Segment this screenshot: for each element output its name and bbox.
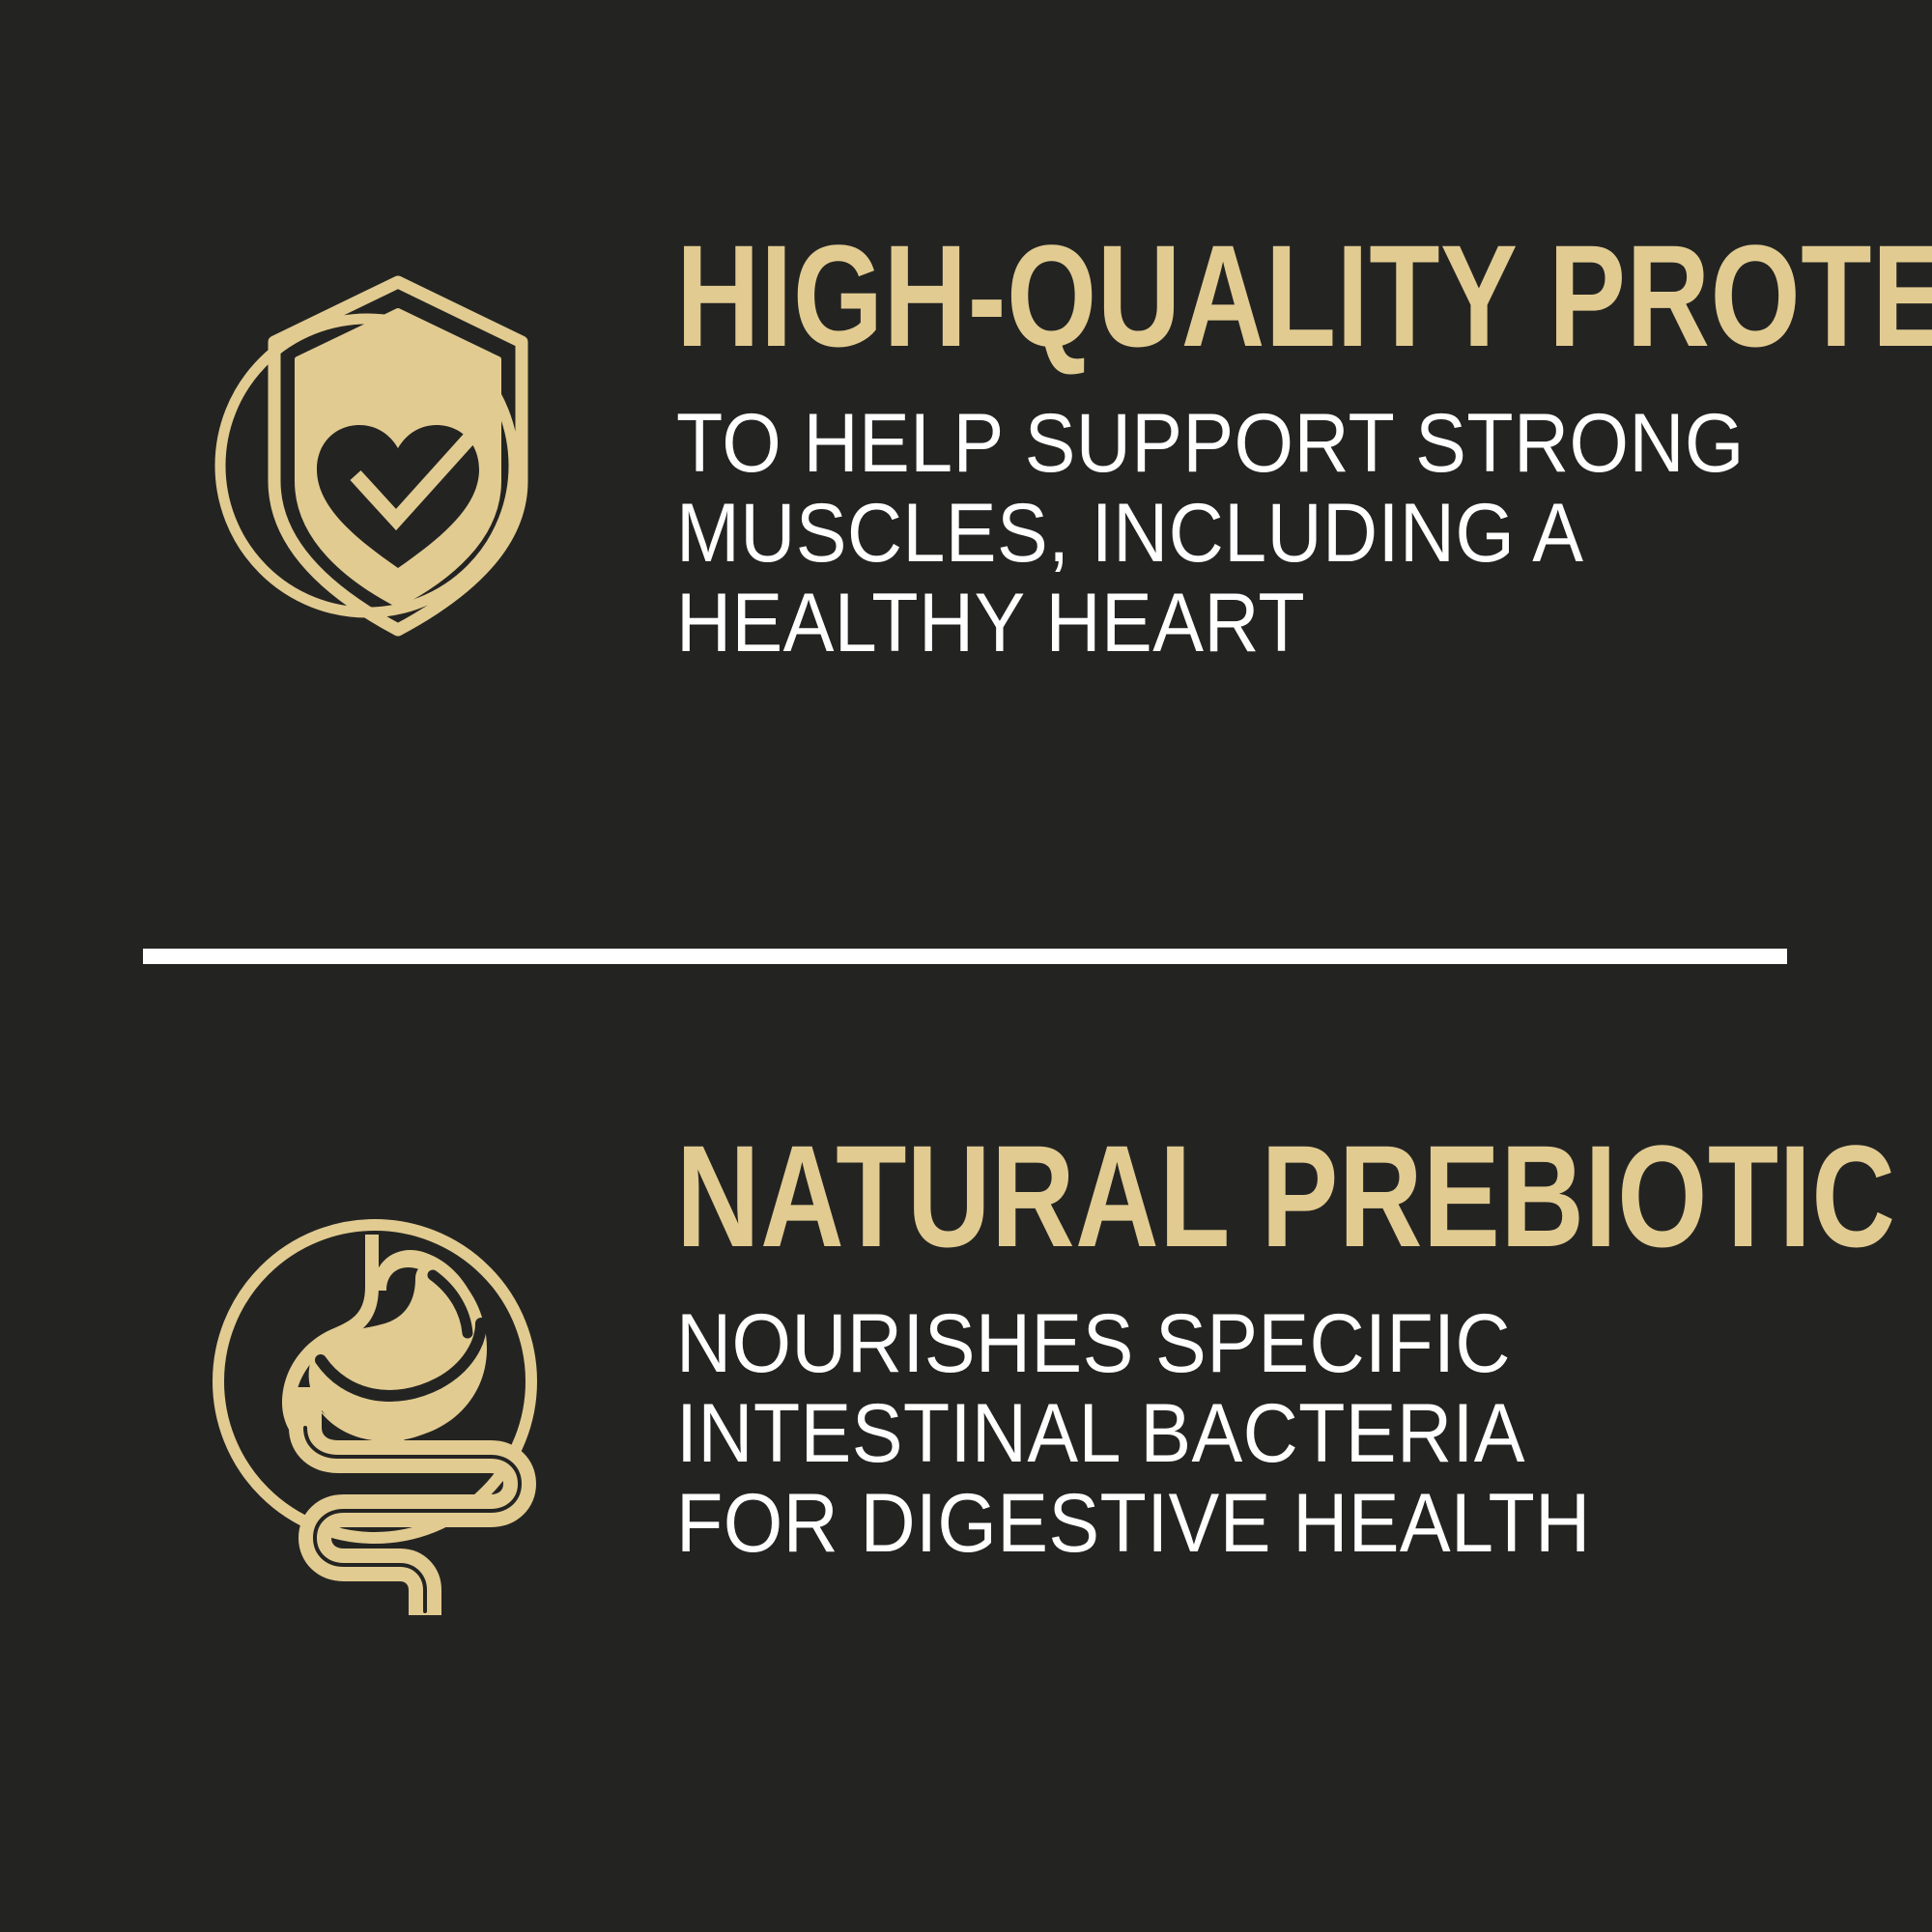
- feature-description-natural-prebiotic-fiber: NOURISHES SPECIFIC INTESTINAL BACTERIA F…: [676, 1299, 1932, 1569]
- stomach-intestine-icon: [201, 1198, 568, 1623]
- feature-text-high-quality-protein: HIGH-QUALITY PROTEIN TO HELP SUPPORT STR…: [676, 228, 1932, 668]
- title-line-2: PROTEIN: [1548, 214, 1932, 377]
- title-line-1: HIGH-QUALITY: [676, 214, 1516, 377]
- feature-title-natural-prebiotic-fiber: NATURAL PREBIOTIC FIBER: [676, 1128, 1932, 1264]
- desc-line-2: MUSCLES, INCLUDING A: [676, 489, 1932, 579]
- feature-title-high-quality-protein: HIGH-QUALITY PROTEIN: [676, 228, 1932, 364]
- title-line-2: PREBIOTIC FIBER: [1261, 1115, 1932, 1277]
- desc-line-1: TO HELP SUPPORT STRONG: [676, 399, 1932, 489]
- feature-text-natural-prebiotic-fiber: NATURAL PREBIOTIC FIBER NOURISHES SPECIF…: [676, 1128, 1932, 1569]
- desc-line-2: INTESTINAL BACTERIA: [676, 1389, 1932, 1479]
- section-divider: [143, 949, 1787, 964]
- desc-line-3: FOR DIGESTIVE HEALTH: [676, 1479, 1932, 1569]
- shield-heart-check-icon: [184, 261, 570, 647]
- desc-line-1: NOURISHES SPECIFIC: [676, 1299, 1932, 1389]
- product-benefits-panel: HIGH-QUALITY PROTEIN TO HELP SUPPORT STR…: [0, 0, 1932, 1932]
- desc-line-3: HEALTHY HEART: [676, 579, 1932, 668]
- title-line-1: NATURAL: [676, 1115, 1229, 1277]
- feature-description-high-quality-protein: TO HELP SUPPORT STRONG MUSCLES, INCLUDIN…: [676, 399, 1932, 668]
